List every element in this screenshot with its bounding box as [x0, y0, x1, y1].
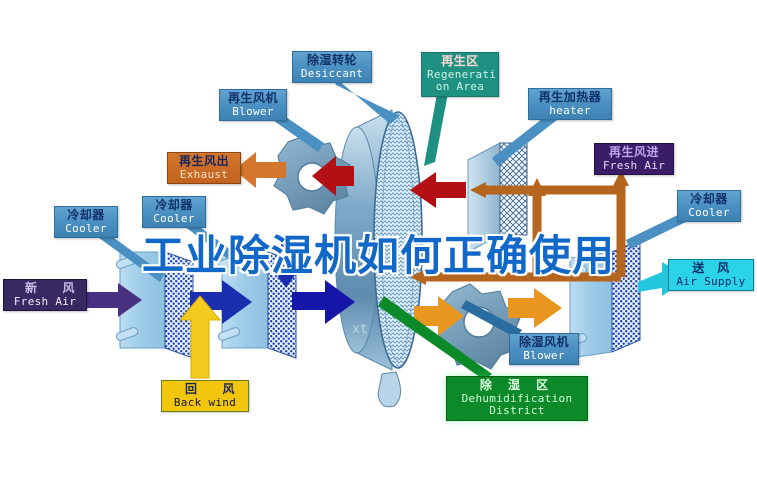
callout-fresh-air-in-en: Fresh Air: [9, 296, 81, 308]
callout-cooler-mid-left-en: Cooler: [148, 213, 200, 225]
callout-exhaust-cn: 再生风出: [173, 155, 235, 168]
callout-cooler-mid-left[interactable]: 冷却器 Cooler: [142, 196, 206, 228]
callout-regeneration-area-en-line1: Regenerati: [427, 69, 493, 81]
callout-back-wind-cn: 回 风: [167, 383, 243, 396]
callout-back-wind-en: Back wind: [167, 397, 243, 409]
callout-cooler-right-cn: 冷却器: [683, 193, 735, 206]
callout-dehum-district-en-line2: District: [452, 405, 582, 417]
callout-dehumidification-district[interactable]: 除 湿 区 Dehumidification District: [446, 376, 588, 421]
dehumidifier-diagram-canvas: 除湿转轮 Desiccant 再生风机 Blower 再生区 Regenerat…: [0, 0, 757, 488]
callout-regeneration-fresh-air-in[interactable]: 再生风进 Fresh Air: [594, 143, 674, 175]
callout-cooler-far-left[interactable]: 冷却器 Cooler: [54, 206, 118, 238]
callout-regeneration-heater-cn: 再生加热器: [534, 91, 606, 104]
callout-fresh-air-in-cn: 新 风: [9, 282, 81, 295]
callout-regeneration-blower-cn: 再生风机: [225, 92, 281, 105]
desiccant-rotor-wheel: [335, 110, 422, 407]
callout-regeneration-heater[interactable]: 再生加热器 heater: [528, 88, 612, 120]
callout-regeneration-heater-en: heater: [534, 105, 606, 117]
callout-regeneration-area[interactable]: 再生区 Regenerati on Area: [421, 52, 499, 97]
callout-desiccant-rotor-en: Desiccant: [298, 68, 366, 80]
callout-air-supply-cn: 送 风: [674, 262, 748, 275]
callout-regeneration-blower[interactable]: 再生风机 Blower: [219, 89, 287, 121]
callout-exhaust-en: Exhaust: [173, 169, 235, 181]
callout-regen-fresh-air-cn: 再生风进: [600, 146, 668, 159]
callout-desiccant-rotor[interactable]: 除湿转轮 Desiccant: [292, 51, 372, 83]
callout-desiccant-rotor-cn: 除湿转轮: [298, 54, 366, 67]
callout-back-wind[interactable]: 回 风 Back wind: [161, 380, 249, 412]
callout-cooler-right[interactable]: 冷却器 Cooler: [677, 190, 741, 222]
callout-dehum-district-en-line1: Dehumidification: [452, 393, 582, 405]
callout-regen-fresh-air-en: Fresh Air: [600, 160, 668, 172]
callout-fresh-air-in[interactable]: 新 风 Fresh Air: [3, 279, 87, 311]
callout-regeneration-area-en-line2: on Area: [427, 81, 493, 93]
schematic-illustration: [0, 0, 757, 488]
callout-dehum-blower-cn: 除湿风机: [515, 336, 573, 349]
callout-cooler-far-left-en: Cooler: [60, 223, 112, 235]
callout-air-supply-en: Air Supply: [674, 276, 748, 288]
callout-dehum-district-cn: 除 湿 区: [452, 379, 582, 392]
callout-air-supply[interactable]: 送 风 Air Supply: [668, 259, 754, 291]
callout-exhaust-out[interactable]: 再生风出 Exhaust: [167, 152, 241, 184]
callout-cooler-mid-left-cn: 冷却器: [148, 199, 200, 212]
callout-regeneration-area-cn: 再生区: [427, 55, 493, 68]
callout-cooler-far-left-cn: 冷却器: [60, 209, 112, 222]
callout-dehum-blower-en: Blower: [515, 350, 573, 362]
callout-dehumidification-blower[interactable]: 除湿风机 Blower: [509, 333, 579, 365]
callout-cooler-right-en: Cooler: [683, 207, 735, 219]
callout-regeneration-blower-en: Blower: [225, 106, 281, 118]
